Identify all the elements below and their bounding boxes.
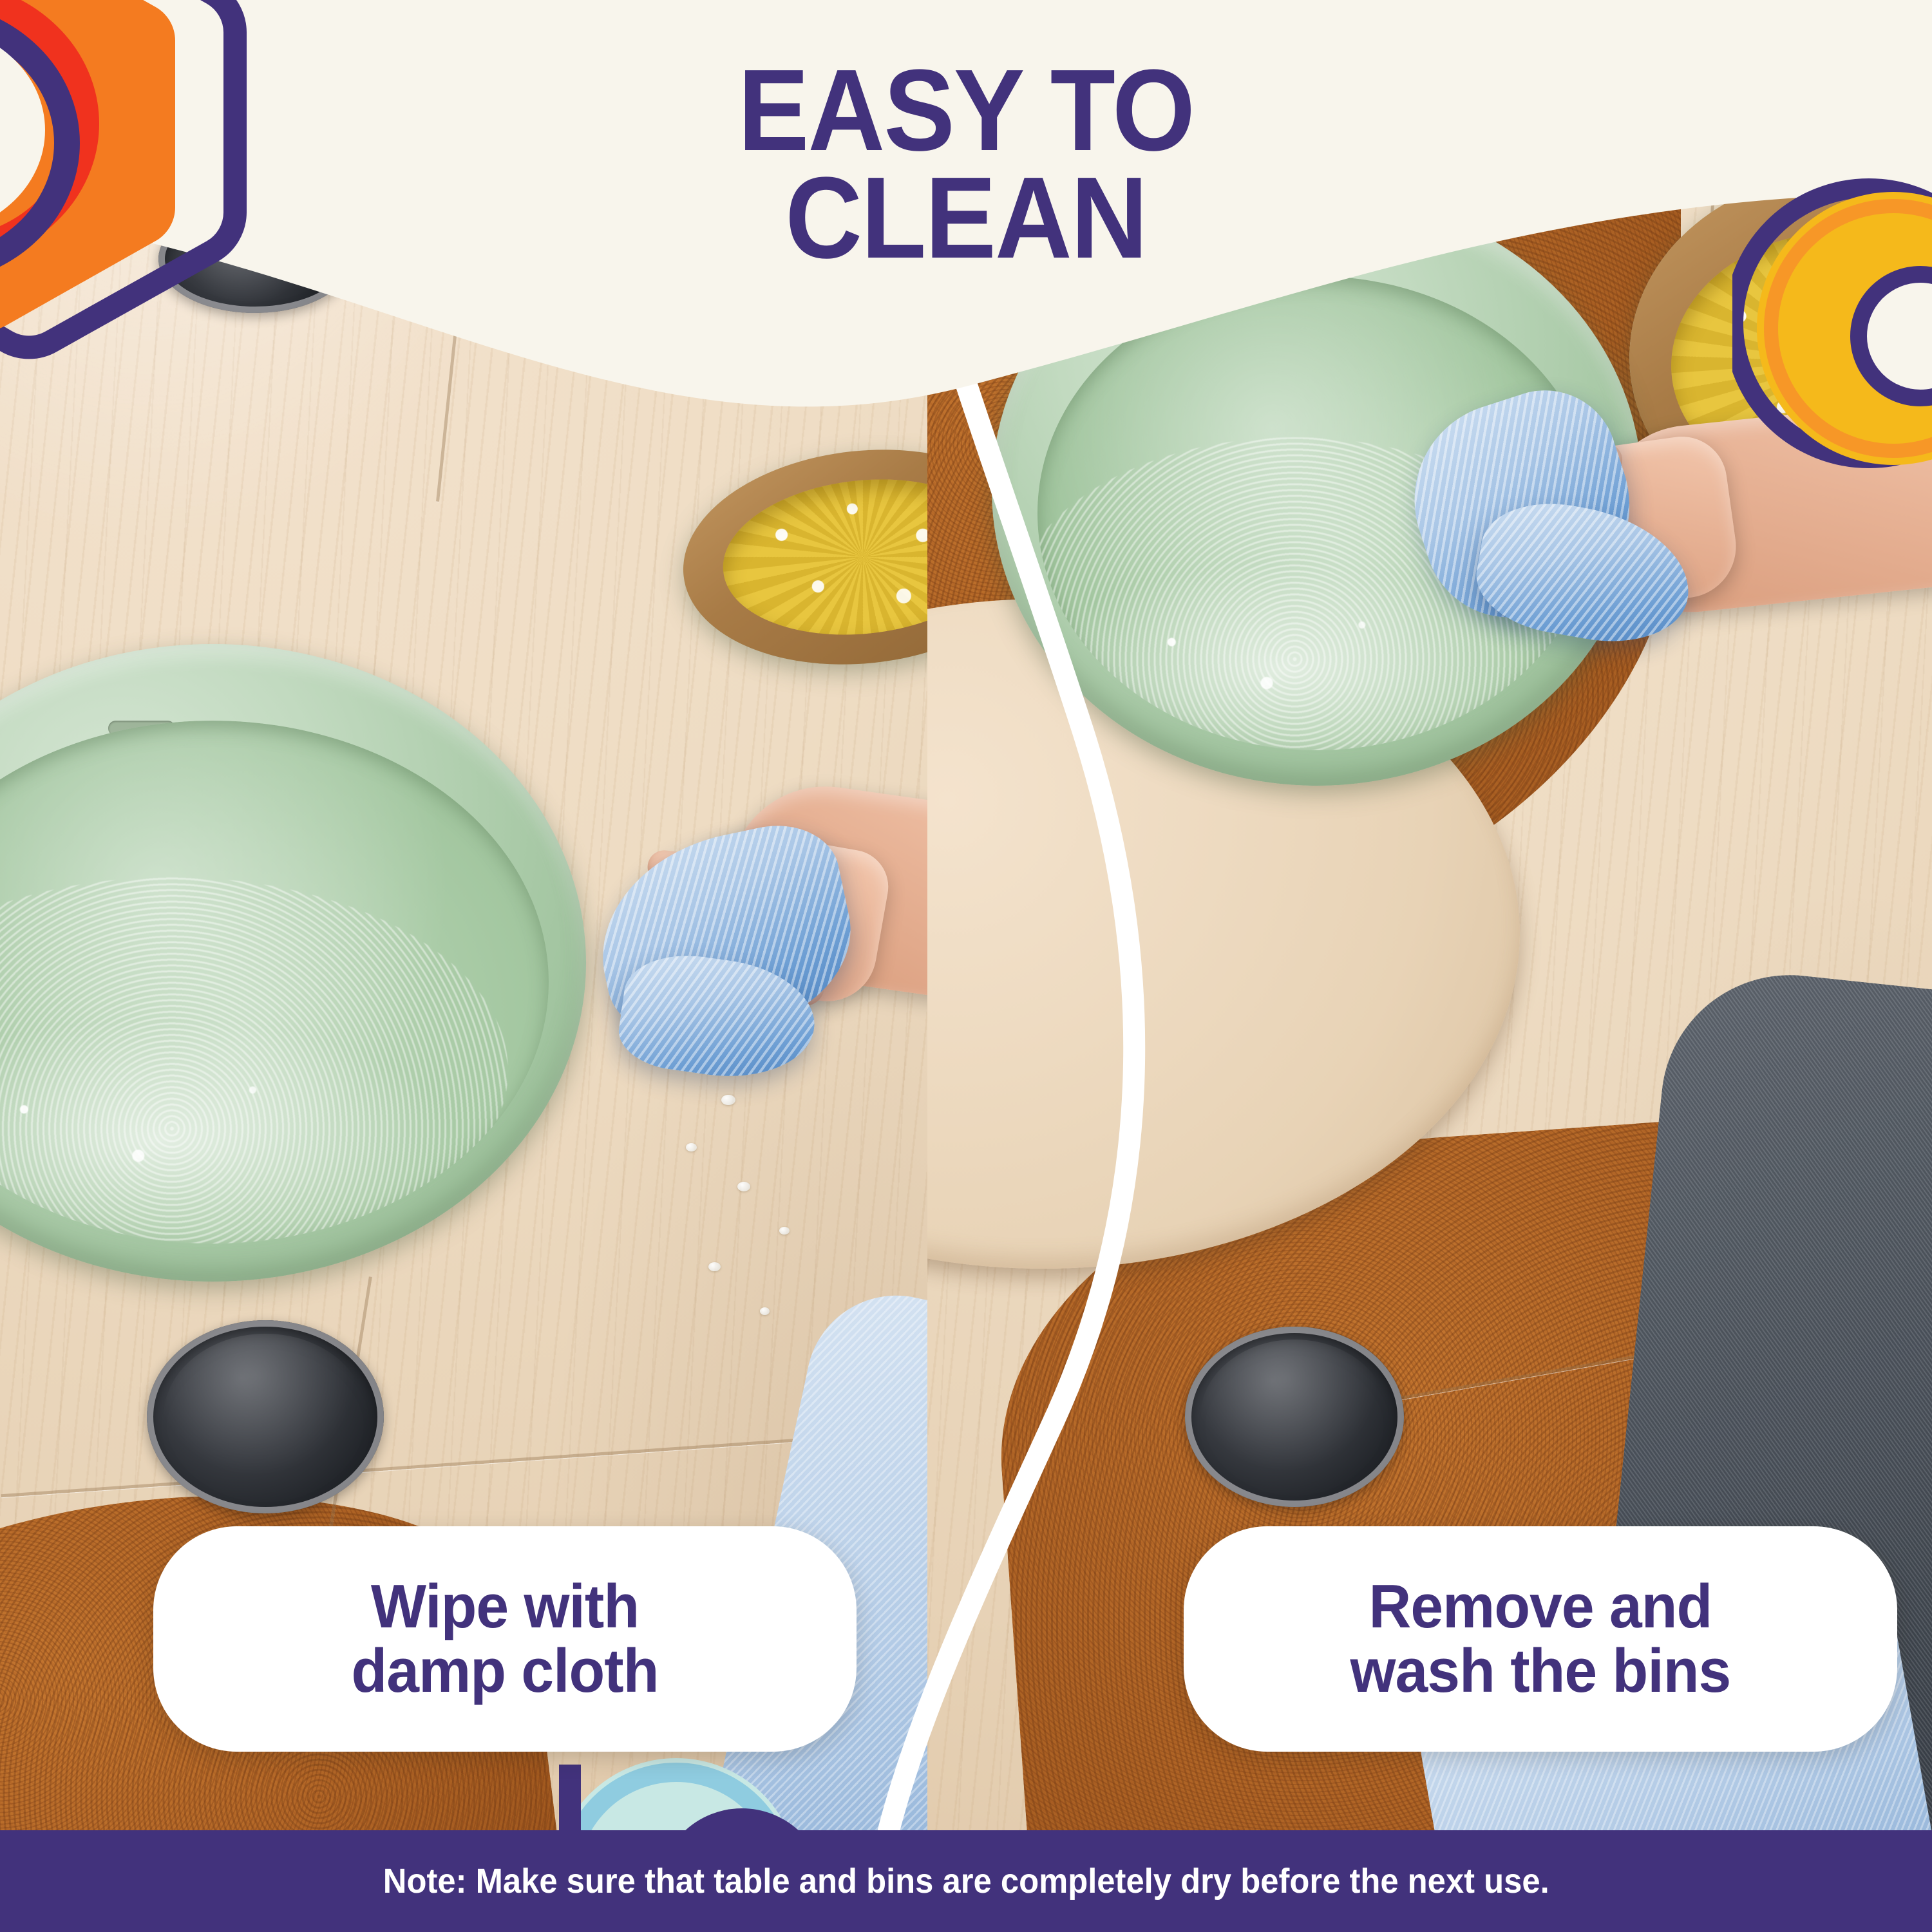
table-well-bottom [147,1320,384,1513]
caption-left-line-2: damp cloth [352,1639,659,1703]
caption-pill-right[interactable]: Remove and wash the bins [1184,1526,1897,1752]
note-bar: Note: Make sure that table and bins are … [0,1830,1932,1932]
caption-left-line-1: Wipe with [352,1575,659,1639]
water-droplet [737,1182,750,1191]
caption-right-line-1: Remove and [1350,1575,1731,1639]
soapy-water [0,721,549,1244]
page-title: EASY TO CLEAN [77,57,1855,272]
infographic-canvas: EASY TO CLEAN Wipe with damp cloth [0,0,1932,1932]
table-well-bottom [1185,1327,1404,1507]
caption-right-line-2: wash the bins [1350,1639,1731,1703]
headline-line-1: EASY TO [77,57,1855,164]
note-text: Note: Make sure that table and bins are … [383,1861,1549,1901]
water-droplet [686,1143,697,1151]
water-droplet [708,1262,721,1271]
water-droplet [779,1227,790,1235]
headline-line-2: CLEAN [77,164,1855,272]
water-droplet [760,1307,770,1315]
water-droplet [721,1095,735,1105]
caption-pill-left[interactable]: Wipe with damp cloth [153,1526,857,1752]
